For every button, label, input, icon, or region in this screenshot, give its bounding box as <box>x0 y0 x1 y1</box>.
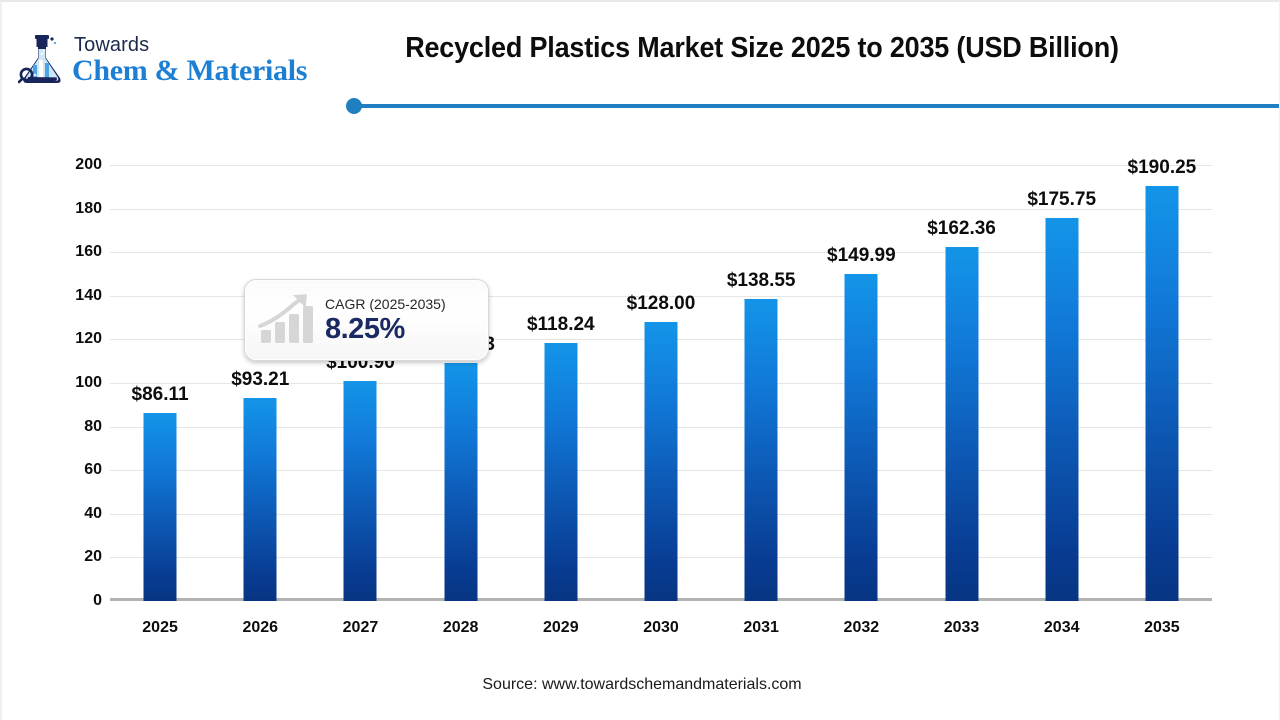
bar[interactable] <box>1145 186 1178 601</box>
bar-value-label: $86.11 <box>132 384 189 406</box>
x-axis-slot: 2027 <box>310 601 410 641</box>
y-axis-tick-label: 40 <box>2 505 102 523</box>
bar[interactable] <box>244 398 277 601</box>
y-axis: 020406080100120140160180200 <box>2 165 102 601</box>
bar-value-label: $175.75 <box>1027 189 1096 211</box>
bar[interactable] <box>144 413 177 601</box>
x-axis: 2025202620272028202920302031203220332034… <box>110 601 1212 641</box>
page-title: Recycled Plastics Market Size 2025 to 20… <box>334 32 1190 65</box>
x-axis-slot: 2025 <box>110 601 210 641</box>
bar-value-label: $138.55 <box>727 270 796 292</box>
brand-logo: Towards Chem & Materials <box>18 30 307 90</box>
x-axis-tick-label: 2027 <box>343 619 379 637</box>
y-axis-tick-label: 120 <box>2 330 102 348</box>
y-axis-tick-label: 80 <box>2 418 102 436</box>
bar-slot: $149.99 <box>811 165 911 601</box>
x-axis-slot: 2032 <box>811 601 911 641</box>
x-axis-slot: 2033 <box>911 601 1011 641</box>
bar-value-label: $93.21 <box>231 369 289 391</box>
y-axis-tick-label: 20 <box>2 548 102 566</box>
x-axis-tick-label: 2030 <box>643 619 679 637</box>
bar[interactable] <box>745 299 778 601</box>
x-axis-tick-label: 2035 <box>1144 619 1180 637</box>
x-axis-slot: 2028 <box>411 601 511 641</box>
x-axis-slot: 2031 <box>711 601 811 641</box>
bar[interactable] <box>344 381 377 601</box>
x-axis-tick-label: 2033 <box>944 619 980 637</box>
source-note: Source: www.towardschemandmaterials.com <box>2 676 1280 694</box>
cagr-card: CAGR (2025-2035) 8.25% <box>244 279 489 361</box>
bar[interactable] <box>544 343 577 601</box>
brand-line-1: Towards <box>72 35 307 55</box>
x-axis-tick-label: 2031 <box>743 619 779 637</box>
x-axis-slot: 2029 <box>511 601 611 641</box>
x-axis-slot: 2026 <box>210 601 310 641</box>
bar-chart: 020406080100120140160180200 $86.11$93.21… <box>2 112 1280 672</box>
x-axis-slot: 2030 <box>611 601 711 641</box>
bar-slot: $175.75 <box>1012 165 1112 601</box>
x-axis-tick-label: 2034 <box>1044 619 1080 637</box>
bar[interactable] <box>444 363 477 601</box>
cagr-text-block: CAGR (2025-2035) 8.25% <box>325 297 446 344</box>
bar[interactable] <box>1045 218 1078 601</box>
x-axis-tick-label: 2028 <box>443 619 479 637</box>
y-axis-tick-label: 140 <box>2 287 102 305</box>
chart-page: Towards Chem & Materials Recycled Plasti… <box>0 0 1280 720</box>
x-axis-tick-label: 2032 <box>844 619 880 637</box>
bar-slot: $128.00 <box>611 165 711 601</box>
bar[interactable] <box>644 322 677 601</box>
bar[interactable] <box>845 274 878 601</box>
brand-line-2: Chem & Materials <box>72 56 307 86</box>
bar-value-label: $162.36 <box>927 218 996 240</box>
y-axis-tick-label: 100 <box>2 374 102 392</box>
cagr-value: 8.25% <box>325 315 446 344</box>
y-axis-tick-label: 60 <box>2 461 102 479</box>
x-axis-tick-label: 2026 <box>242 619 278 637</box>
bar-slot: $162.36 <box>911 165 1011 601</box>
bar-value-label: $118.24 <box>527 314 595 336</box>
bar-series: $86.11$93.21$100.90$109.23$118.24$128.00… <box>110 165 1212 601</box>
page-header: Towards Chem & Materials Recycled Plasti… <box>2 2 1280 112</box>
bar-slot: $109.23 <box>411 165 511 601</box>
bar-slot: $138.55 <box>711 165 811 601</box>
brand-wordmark: Towards Chem & Materials <box>72 35 307 86</box>
flask-icon <box>18 34 66 86</box>
bar-slot: $86.11 <box>110 165 210 601</box>
bar-slot: $118.24 <box>511 165 611 601</box>
bar-slot: $93.21 <box>210 165 310 601</box>
cagr-caption: CAGR (2025-2035) <box>325 297 446 311</box>
bar-value-label: $190.25 <box>1128 157 1197 179</box>
bar[interactable] <box>945 247 978 601</box>
x-axis-tick-label: 2025 <box>142 619 178 637</box>
x-axis-slot: 2034 <box>1012 601 1112 641</box>
y-axis-tick-label: 180 <box>2 200 102 218</box>
y-axis-tick-label: 0 <box>2 592 102 610</box>
y-axis-tick-label: 200 <box>2 156 102 174</box>
bar-value-label: $128.00 <box>627 293 696 315</box>
x-axis-slot: 2035 <box>1112 601 1212 641</box>
bar-slot: $100.90 <box>310 165 410 601</box>
bar-slot: $190.25 <box>1112 165 1212 601</box>
divider-line <box>354 104 1280 108</box>
growth-bar-chart-arrow-icon <box>257 292 319 348</box>
x-axis-tick-label: 2029 <box>543 619 579 637</box>
y-axis-tick-label: 160 <box>2 243 102 261</box>
bar-value-label: $149.99 <box>827 245 896 267</box>
